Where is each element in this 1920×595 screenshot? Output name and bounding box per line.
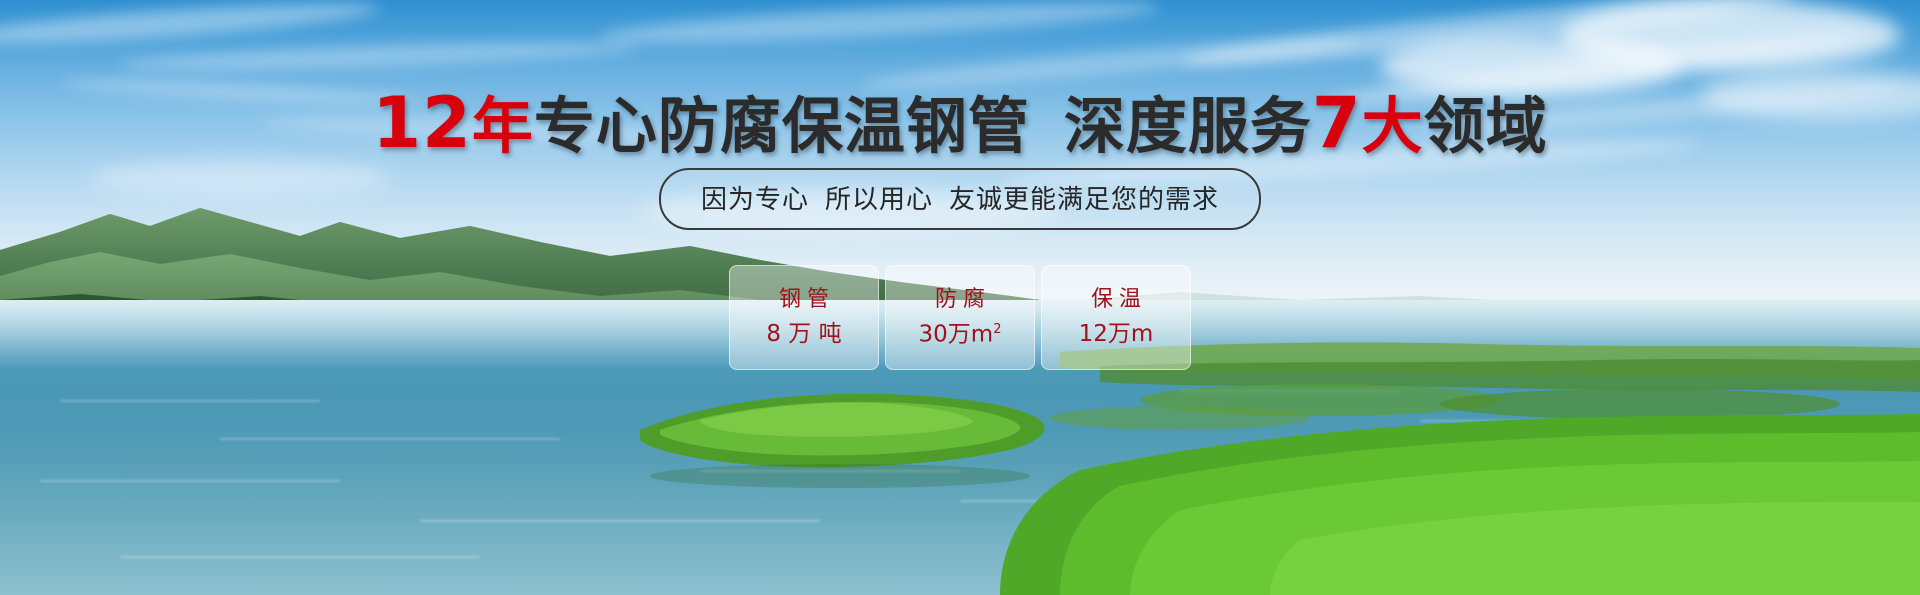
stat-card-value: 30万m2	[919, 323, 1002, 347]
stat-card-anticorrosion: 防腐 30万m2	[885, 265, 1035, 370]
headline-highlight-unit: 大	[1362, 91, 1424, 162]
stat-card-value-main: 30万m	[919, 321, 994, 347]
headline-highlight-number: 7	[1312, 82, 1362, 164]
subtitle-part-1: 因为专心	[701, 185, 809, 215]
stat-card-label: 钢管	[773, 289, 835, 311]
subtitle-container: 因为专心所以用心友诚更能满足您的需求	[0, 168, 1920, 230]
stat-card-value-main: 8 万 吨	[766, 321, 841, 347]
stat-card-list: 钢管 8 万 吨 防腐 30万m2 保温 12万m	[0, 265, 1920, 370]
stat-card-value-superscript: 2	[993, 322, 1001, 337]
stat-card-label: 防腐	[929, 289, 991, 311]
subtitle-pill: 因为专心所以用心友诚更能满足您的需求	[659, 168, 1261, 230]
stat-card-value-main: 12万m	[1079, 321, 1154, 347]
headline-years-number: 12	[372, 82, 471, 164]
stat-card-value: 12万m	[1079, 323, 1154, 346]
headline-segment-2: 深度服务	[1064, 91, 1312, 162]
stat-card-insulation: 保温 12万m	[1041, 265, 1191, 370]
stat-card-value: 8 万 吨	[766, 323, 841, 346]
headline-segment-3: 领域	[1424, 91, 1548, 162]
headline-years-unit: 年	[472, 91, 534, 162]
page-title: 12年专心防腐保温钢管深度服务7大领域	[0, 88, 1920, 158]
promo-banner: 12年专心防腐保温钢管深度服务7大领域 因为专心所以用心友诚更能满足您的需求 钢…	[0, 0, 1920, 595]
subtitle-part-3: 友诚更能满足您的需求	[949, 185, 1219, 215]
headline-segment-1: 专心防腐保温钢管	[534, 91, 1030, 162]
stat-card-steel-pipe: 钢管 8 万 吨	[729, 265, 879, 370]
stat-card-label: 保温	[1085, 289, 1147, 311]
subtitle-part-2: 所以用心	[825, 185, 933, 215]
